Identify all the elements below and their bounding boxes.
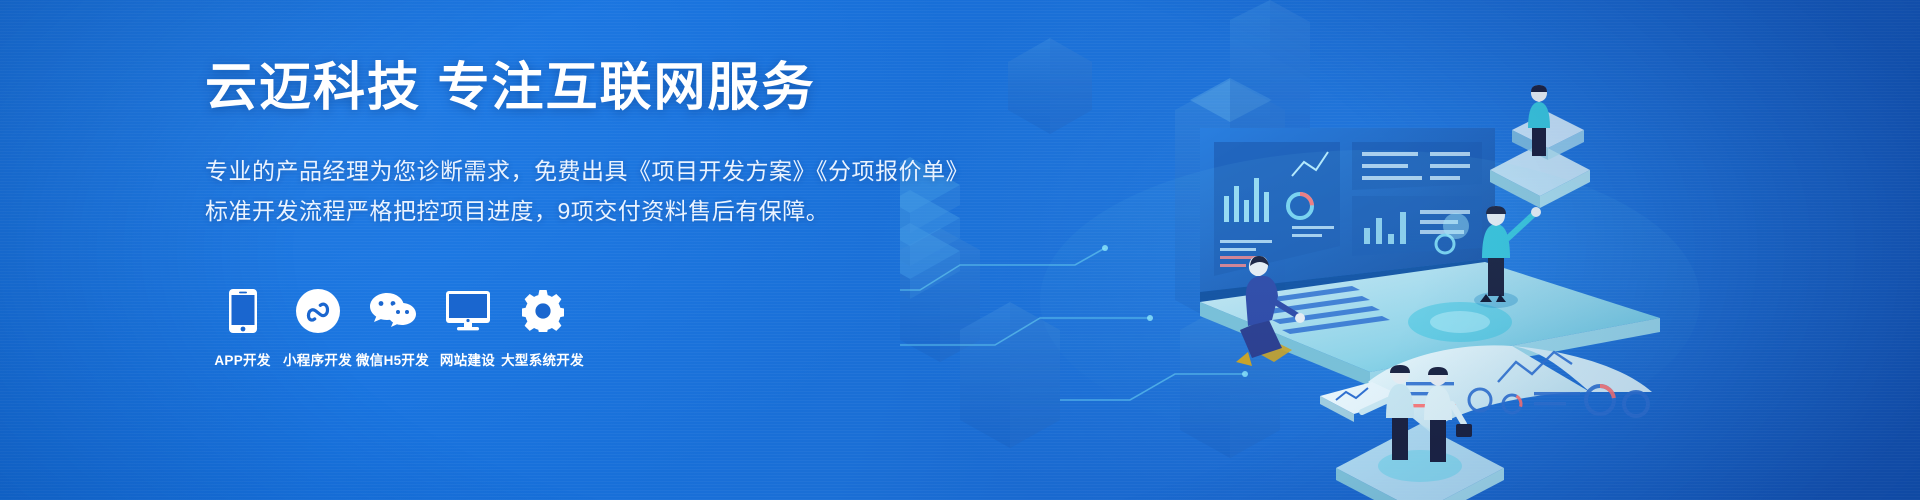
service-label: 网站建设 <box>440 349 495 369</box>
gear-icon <box>522 288 564 334</box>
mini-program-icon <box>296 288 340 334</box>
service-item-app[interactable]: APP开发 <box>205 288 280 369</box>
isometric-tech-dashboard-illustration <box>900 0 1920 500</box>
service-item-miniprogram[interactable]: 小程序开发 <box>280 288 355 369</box>
wechat-icon <box>370 288 416 334</box>
service-item-wechat-h5[interactable]: 微信H5开发 <box>355 288 430 369</box>
service-list: APP开发 小程序开发 <box>205 288 580 369</box>
subtitle-line-2: 标准开发流程严格把控项目进度，9项交付资料售后有保障。 <box>205 192 925 232</box>
mobile-phone-icon <box>229 288 257 334</box>
hero-copy: 云迈科技 专注互联网服务 专业的产品经理为您诊断需求，免费出具《项目开发方案》《… <box>205 62 925 231</box>
monitor-icon <box>446 288 490 334</box>
service-label: 大型系统开发 <box>501 349 584 369</box>
subtitle-line-1: 专业的产品经理为您诊断需求，免费出具《项目开发方案》《分项报价单》 <box>205 152 925 192</box>
service-label: 小程序开发 <box>283 349 352 369</box>
service-item-website[interactable]: 网站建设 <box>430 288 505 369</box>
service-label: APP开发 <box>214 349 270 369</box>
hero-banner: 云迈科技 专注互联网服务 专业的产品经理为您诊断需求，免费出具《项目开发方案》《… <box>0 0 1920 500</box>
page-title: 云迈科技 专注互联网服务 <box>205 62 925 114</box>
service-label: 微信H5开发 <box>356 349 429 369</box>
service-item-large-system[interactable]: 大型系统开发 <box>505 288 580 369</box>
